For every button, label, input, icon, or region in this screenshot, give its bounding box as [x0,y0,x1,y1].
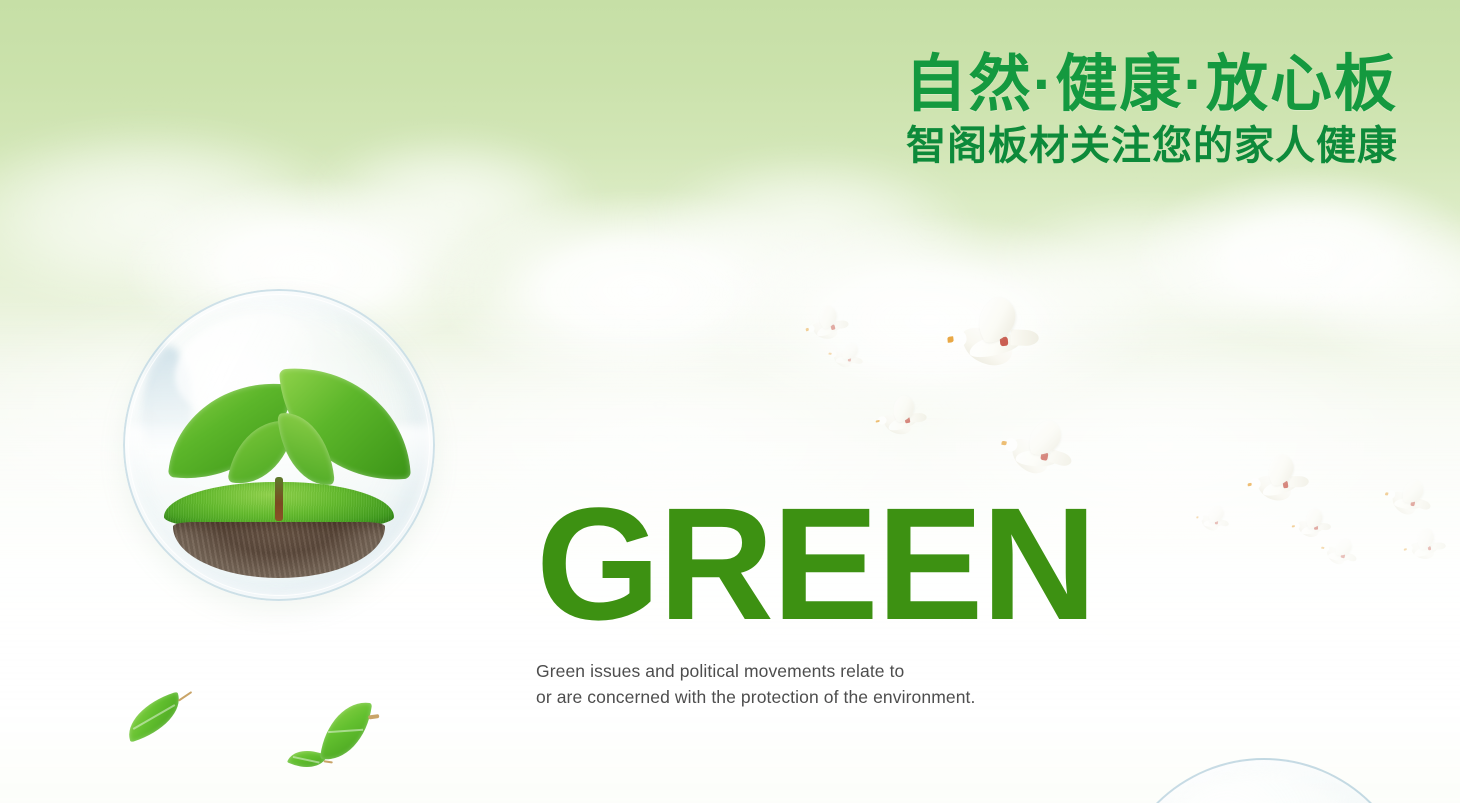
cloud-2 [300,130,600,280]
green-banner: 自然·健康·放心板 智阁板材关注您的家人健康 GREEN Green issue… [0,0,1460,803]
cloud-4 [640,150,980,320]
green-tagline: Green issues and political movements rel… [536,659,1095,710]
headline-main: 自然·健康·放心板 [905,52,1398,117]
green-word: GREEN [536,498,1095,629]
tagline-line-1: Green issues and political movements rel… [536,659,1095,684]
headline-sub: 智阁板材关注您的家人健康 [905,123,1398,169]
green-block: GREEN Green issues and political movemen… [536,498,1095,710]
seedling-stem [275,477,283,521]
cloud-0 [0,120,360,310]
tagline-line-2: or are concerned with the protection of … [536,685,1095,710]
glass-sphere-with-seedling [123,289,435,601]
headline-block: 自然·健康·放心板 智阁板材关注您的家人健康 [905,52,1398,169]
